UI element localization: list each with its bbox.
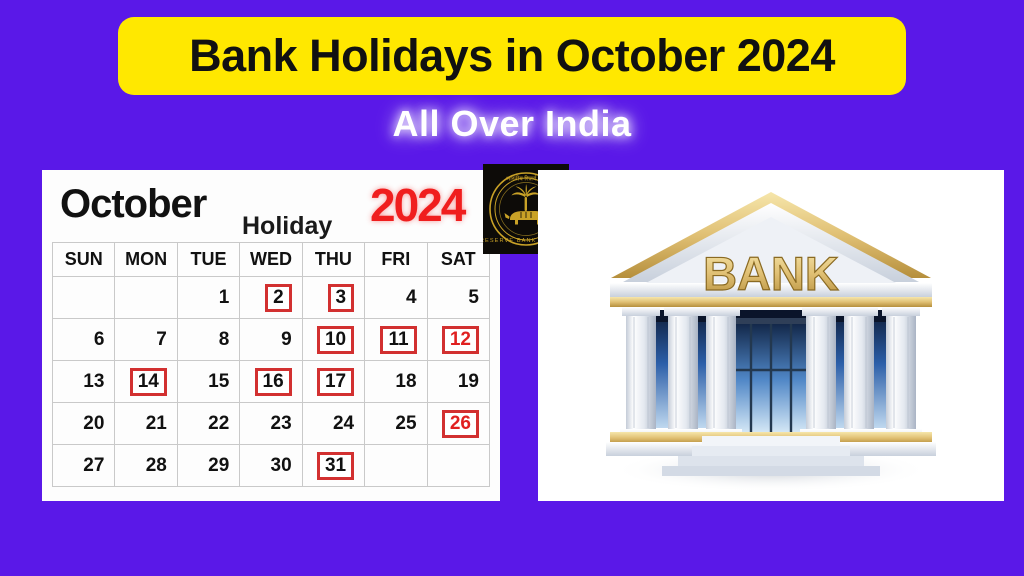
calendar-day-1[interactable]: 1 — [177, 277, 239, 319]
calendar-day-empty — [53, 277, 115, 319]
calendar-week-row: 2728293031 — [53, 445, 490, 487]
calendar-weekday-fri: FRI — [365, 243, 427, 277]
title-banner: Bank Holidays in October 2024 — [118, 17, 906, 95]
calendar-day-24[interactable]: 24 — [302, 403, 364, 445]
page-title: Bank Holidays in October 2024 — [189, 30, 835, 82]
calendar-day-empty — [365, 445, 427, 487]
page-subtitle: All Over India — [0, 103, 1024, 145]
holiday-marker: 14 — [130, 368, 167, 396]
calendar-day-27[interactable]: 27 — [53, 445, 115, 487]
calendar-week-row: 20212223242526 — [53, 403, 490, 445]
calendar-day-4[interactable]: 4 — [365, 277, 427, 319]
holiday-marker: 3 — [328, 284, 355, 312]
holiday-marker: 31 — [317, 452, 354, 480]
calendar-day-holiday-16[interactable]: 16 — [240, 361, 302, 403]
calendar-weekday-sat: SAT — [427, 243, 489, 277]
calendar-day-holiday-12[interactable]: 12 — [427, 319, 489, 361]
calendar-day-8[interactable]: 8 — [177, 319, 239, 361]
calendar-year-label: 2024 — [370, 178, 464, 232]
calendar-day-empty — [427, 445, 489, 487]
calendar-day-5[interactable]: 5 — [427, 277, 489, 319]
calendar-day-20[interactable]: 20 — [53, 403, 115, 445]
holiday-marker: 16 — [255, 368, 292, 396]
calendar-day-23[interactable]: 23 — [240, 403, 302, 445]
calendar-week-row: 13141516171819 — [53, 361, 490, 403]
calendar-day-15[interactable]: 15 — [177, 361, 239, 403]
holiday-marker: 2 — [265, 284, 292, 312]
calendar-day-holiday-2[interactable]: 2 — [240, 277, 302, 319]
bank-sign-text: BANK — [703, 247, 839, 300]
calendar-day-holiday-10[interactable]: 10 — [302, 319, 364, 361]
calendar-weekday-tue: TUE — [177, 243, 239, 277]
calendar-day-25[interactable]: 25 — [365, 403, 427, 445]
holiday-marker: 26 — [442, 410, 479, 438]
calendar-holiday-label: Holiday — [242, 212, 332, 241]
calendar-day-7[interactable]: 7 — [115, 319, 177, 361]
holiday-marker: 17 — [317, 368, 354, 396]
calendar-day-holiday-17[interactable]: 17 — [302, 361, 364, 403]
holiday-marker: 11 — [380, 326, 416, 354]
calendar-weekday-mon: MON — [115, 243, 177, 277]
bank-building-image: BANK — [538, 170, 1004, 501]
calendar-day-holiday-31[interactable]: 31 — [302, 445, 364, 487]
calendar-day-19[interactable]: 19 — [427, 361, 489, 403]
calendar-grid: SUNMONTUEWEDTHUFRISAT 123456789101112131… — [52, 242, 490, 487]
october-calendar-panel: October Holiday 2024 SUNMONTUEWEDTHUFRIS… — [42, 170, 500, 501]
calendar-day-18[interactable]: 18 — [365, 361, 427, 403]
calendar-week-row: 12345 — [53, 277, 490, 319]
calendar-day-29[interactable]: 29 — [177, 445, 239, 487]
calendar-day-13[interactable]: 13 — [53, 361, 115, 403]
calendar-weekday-thu: THU — [302, 243, 364, 277]
calendar-header: October Holiday 2024 — [52, 180, 490, 242]
calendar-weekday-wed: WED — [240, 243, 302, 277]
calendar-day-empty — [115, 277, 177, 319]
calendar-day-9[interactable]: 9 — [240, 319, 302, 361]
calendar-weekday-header-row: SUNMONTUEWEDTHUFRISAT — [53, 243, 490, 277]
calendar-day-holiday-26[interactable]: 26 — [427, 403, 489, 445]
calendar-day-28[interactable]: 28 — [115, 445, 177, 487]
calendar-weekday-sun: SUN — [53, 243, 115, 277]
holiday-marker: 12 — [442, 326, 479, 354]
calendar-day-22[interactable]: 22 — [177, 403, 239, 445]
calendar-month-label: October — [60, 182, 206, 227]
calendar-day-holiday-14[interactable]: 14 — [115, 361, 177, 403]
calendar-day-holiday-11[interactable]: 11 — [365, 319, 427, 361]
calendar-day-21[interactable]: 21 — [115, 403, 177, 445]
holiday-marker: 10 — [317, 326, 354, 354]
calendar-day-holiday-3[interactable]: 3 — [302, 277, 364, 319]
calendar-week-row: 6789101112 — [53, 319, 490, 361]
calendar-day-6[interactable]: 6 — [53, 319, 115, 361]
calendar-day-30[interactable]: 30 — [240, 445, 302, 487]
